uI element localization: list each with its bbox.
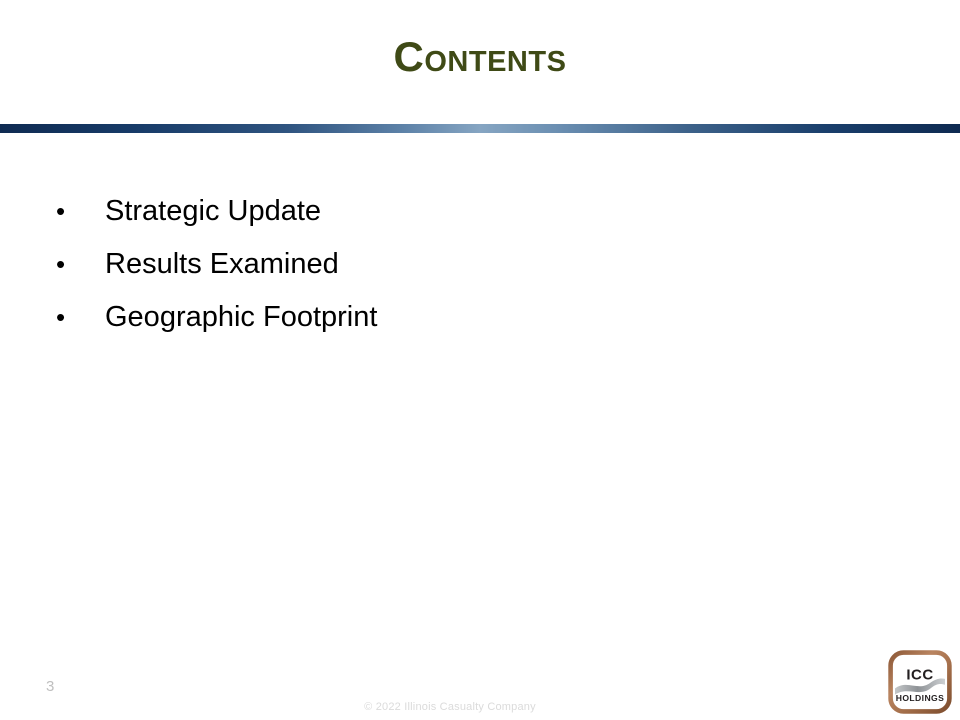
title-divider-bar	[0, 124, 960, 133]
bullet-point-icon: •	[46, 298, 105, 336]
footer-copyright: © 2022 Illinois Casualty Company	[0, 700, 900, 715]
list-item-label: Strategic Update	[105, 192, 321, 230]
bullet-point-icon: •	[46, 192, 105, 230]
svg-text:ICC: ICC	[906, 667, 933, 684]
slide-canvas: Contents • Strategic Update • Results Ex…	[0, 0, 960, 720]
list-item-label: Geographic Footprint	[105, 298, 377, 336]
page-title: Contents	[0, 30, 960, 84]
contents-bullet-list: • Strategic Update • Results Examined • …	[46, 192, 746, 351]
icc-holdings-logo: ICC HOLDINGS	[888, 650, 952, 714]
svg-text:HOLDINGS: HOLDINGS	[896, 693, 945, 703]
list-item-label: Results Examined	[105, 245, 339, 283]
bullet-point-icon: •	[46, 245, 105, 283]
page-number: 3	[46, 678, 54, 696]
list-item[interactable]: • Results Examined	[46, 245, 746, 298]
list-item[interactable]: • Strategic Update	[46, 192, 746, 245]
list-item[interactable]: • Geographic Footprint	[46, 298, 746, 351]
